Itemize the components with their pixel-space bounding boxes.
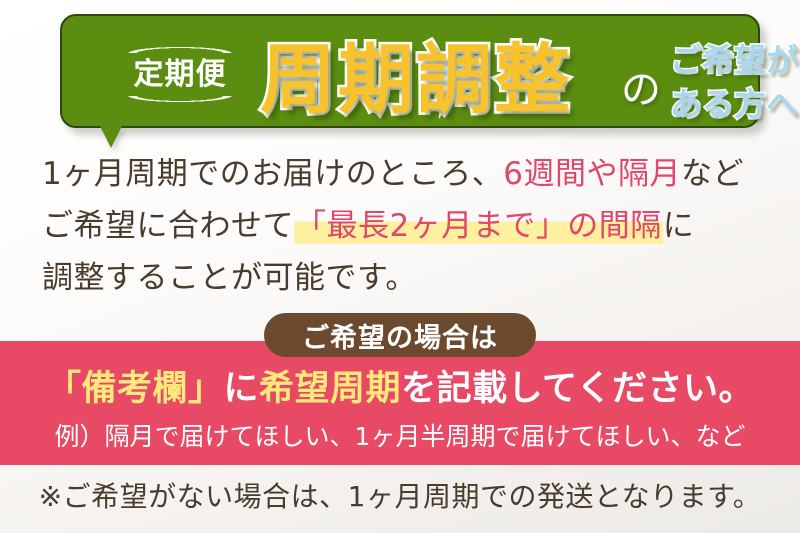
body-line-1-part-b: など — [681, 156, 744, 192]
header-right-note-line2: ある方へ — [670, 82, 800, 126]
header-right-note: ご希望が ある方へ — [670, 38, 800, 126]
body-line-1-part-a: 1ヶ月周期でのお届けのところ、 — [42, 156, 503, 192]
instruction-tail: を記載してください。 — [401, 369, 754, 409]
subscription-badge: 定期便 — [110, 46, 250, 103]
instruction-keyword: 希望周期 — [259, 369, 401, 409]
body-line-1: 1ヶ月周期でのお届けのところ、6週間や隔月など — [42, 148, 772, 200]
speech-bubble-tail — [100, 126, 122, 148]
header-connector-particle: の — [621, 68, 661, 112]
body-line-2: ご希望に合わせて「最長2ヶ月まで」の間隔に — [42, 200, 772, 252]
condition-pill-badge: ご希望の場合は — [264, 313, 536, 357]
instruction-example-line: 例）隔月で届けてほしい、1ヶ月半周期で届けてほしい、など — [0, 421, 800, 453]
subscription-badge-label: 定期便 — [110, 53, 250, 96]
body-line-2-highlight: 「最長2ヶ月まで」の間隔 — [294, 208, 663, 244]
wave-decoration-bottom — [110, 96, 250, 103]
body-line-1-highlight: 6週間や隔月 — [503, 156, 681, 192]
header-right-note-line1: ご希望が — [670, 38, 800, 82]
body-line-3: 調整することが可能です。 — [42, 252, 772, 304]
condition-pill-label: ご希望の場合は — [302, 316, 498, 355]
promo-banner: 定期便 周期調整 の ご希望が ある方へ 1ヶ月周期でのお届けのところ、6週間や… — [0, 0, 800, 533]
body-line-2-part-a: ご希望に合わせて — [42, 208, 294, 244]
header-title: 周期調整 — [260, 34, 572, 126]
wave-decoration-top — [110, 46, 250, 53]
instruction-band: 「備考欄」に希望周期を記載してください。 例）隔月で届けてほしい、1ヶ月半周期で… — [0, 341, 800, 465]
instruction-main-line: 「備考欄」に希望周期を記載してください。 — [0, 367, 800, 411]
header-container: 定期便 周期調整 の ご希望が ある方へ — [60, 14, 760, 128]
body-line-2-part-b: に — [663, 208, 695, 244]
body-paragraph: 1ヶ月周期でのお届けのところ、6週間や隔月など ご希望に合わせて「最長2ヶ月まで… — [42, 148, 772, 304]
footer-note: ※ご希望がない場合は、1ヶ月周期での発送となります。 — [0, 477, 800, 517]
instruction-field-name: 「備考欄」 — [46, 369, 224, 409]
green-header-panel: 定期便 周期調整 の ご希望が ある方へ — [60, 14, 760, 128]
instruction-particle-1: に — [224, 369, 260, 409]
